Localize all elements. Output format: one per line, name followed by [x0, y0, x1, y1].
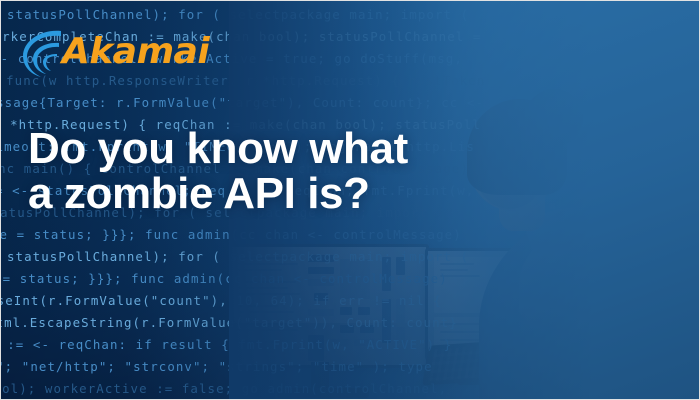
headline-line-1: Do you know what [28, 127, 408, 172]
akamai-promo-banner: statusPollChannel); for ( selectpackage … [0, 0, 700, 400]
code-line: statusPollChannel); for ( selectpackage … [7, 249, 699, 264]
code-line: ult := <- reqChan: if result { fmt.Fprin… [1, 337, 699, 352]
akamai-logo[interactable]: Akamai [17, 23, 167, 83]
code-line: ve = status; }}}; func admin(cc chan <- … [1, 227, 699, 242]
code-line: statusPollChannel); for ( selectpackage … [7, 7, 699, 22]
code-line: ParseInt(r.FormValue("count"), 10, 64); … [1, 293, 699, 308]
code-line: ve = status; }}}; func admin(cc chan <- … [1, 271, 699, 286]
code-line: Message{Target: r.FormValue("target"), C… [1, 95, 699, 110]
code-line: html.EscapeString(r.FormValue("target"))… [1, 315, 699, 330]
code-line: bool); workerActive := false; go admin(c… [1, 381, 699, 396]
code-line: og"; "net/http"; "strconv"; "strings"; "… [1, 359, 699, 374]
headline: Do you know what a zombie API is? [28, 127, 408, 217]
headline-line-2: a zombie API is? [28, 172, 408, 217]
akamai-wordmark: Akamai [62, 31, 209, 72]
